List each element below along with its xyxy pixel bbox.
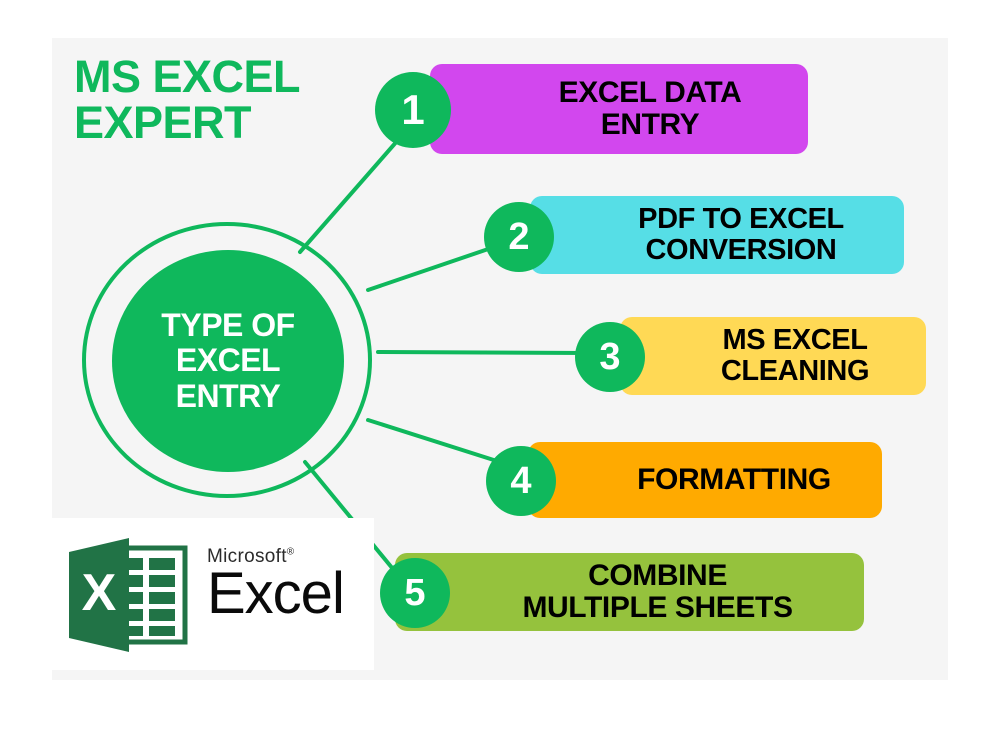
excel-product-name: Excel <box>207 566 377 623</box>
page-title: MS EXCEL EXPERT <box>74 54 300 146</box>
item-bar-3[interactable]: MS EXCEL CLEANING <box>620 317 926 395</box>
item-badge-4[interactable]: 4 <box>486 446 556 516</box>
item-badge-5[interactable]: 5 <box>380 558 450 628</box>
connector-line-2 <box>368 245 500 290</box>
item-label-1: EXCEL DATA ENTRY <box>492 77 808 142</box>
excel-wordmark: Microsoft® Excel <box>207 546 377 623</box>
item-bar-4[interactable]: FORMATTING <box>528 442 882 518</box>
hub-core-circle: TYPE OF EXCEL ENTRY <box>112 250 344 472</box>
item-label-5: COMBINE MULTIPLE SHEETS <box>451 560 864 625</box>
microsoft-excel-logo: X Microsoft® Excel <box>52 518 374 670</box>
connector-line-3 <box>378 352 588 353</box>
infographic-canvas: MS EXCEL EXPERT TYPE OF EXCEL ENTRY EXCE… <box>0 0 1000 750</box>
item-badge-1[interactable]: 1 <box>375 72 451 148</box>
item-label-4: FORMATTING <box>586 464 882 496</box>
excel-icon: X <box>67 536 189 654</box>
item-bar-2[interactable]: PDF TO EXCEL CONVERSION <box>530 196 904 274</box>
item-bar-1[interactable]: EXCEL DATA ENTRY <box>430 64 808 154</box>
center-hub: TYPE OF EXCEL ENTRY <box>82 222 380 506</box>
hub-label: TYPE OF EXCEL ENTRY <box>161 308 294 414</box>
connector-line-4 <box>368 420 500 462</box>
item-badge-3[interactable]: 3 <box>575 322 645 392</box>
item-label-2: PDF TO EXCEL CONVERSION <box>578 204 904 267</box>
item-badge-2[interactable]: 2 <box>484 202 554 272</box>
svg-text:X: X <box>82 564 117 622</box>
registered-mark: ® <box>287 547 295 558</box>
item-label-3: MS EXCEL CLEANING <box>664 325 926 388</box>
item-bar-5[interactable]: COMBINE MULTIPLE SHEETS <box>395 553 864 631</box>
